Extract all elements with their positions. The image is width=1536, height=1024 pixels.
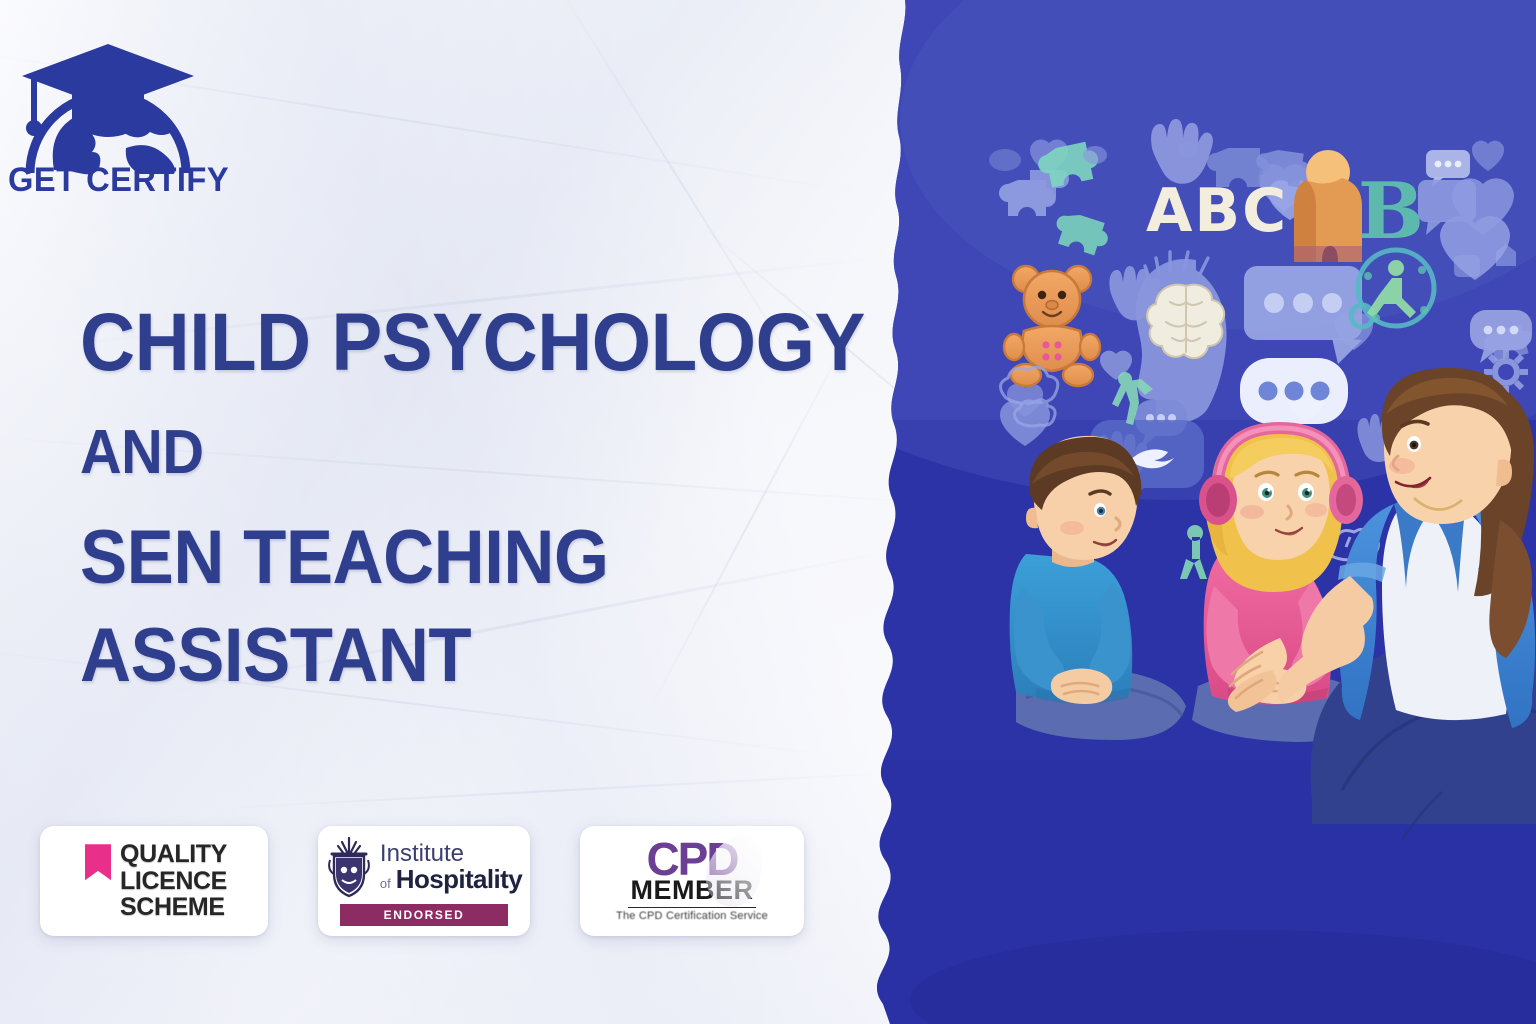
qls-line-2: LICENCE (120, 868, 227, 895)
ioh-word-of: of (380, 877, 391, 890)
qls-line-1: QUALITY (120, 841, 227, 868)
ioh-word-institute: Institute (380, 842, 522, 866)
qls-line-3: SCHEME (120, 894, 227, 921)
cpd-subtitle: The CPD Certification Service (616, 910, 768, 923)
brand-name: GET CERTIFY (8, 161, 229, 200)
accreditation-badges: QUALITY LICENCE SCHEME (40, 826, 804, 936)
pink-ribbon-bookmark-icon (85, 844, 111, 880)
title-line-3: SEN TEACHING (80, 523, 865, 593)
cpd-divider (628, 907, 756, 908)
title-line-2: AND (80, 424, 865, 481)
title-line-4: ASSISTANT (80, 621, 865, 691)
page-title: CHILD PSYCHOLOGY AND SEN TEACHING ASSIST… (80, 305, 924, 691)
badge-quality-licence-scheme[interactable]: QUALITY LICENCE SCHEME (40, 826, 268, 936)
heraldic-crest-icon (326, 836, 372, 898)
badge-cpd-member[interactable]: CPD MEMBER The CPD Certification Service (580, 826, 804, 936)
cpd-role: MEMBER (631, 877, 754, 904)
title-line-1: CHILD PSYCHOLOGY (80, 305, 865, 380)
course-banner: B (0, 0, 1536, 1024)
badge-institute-of-hospitality[interactable]: Institute of Hospitality ENDORSED (318, 826, 530, 936)
abc-letters: ABC (1146, 176, 1288, 246)
ioh-word-hospitality: Hospitality (396, 866, 522, 892)
svg-text:B: B (1358, 166, 1424, 257)
ioh-endorsed-tag: ENDORSED (340, 904, 509, 926)
